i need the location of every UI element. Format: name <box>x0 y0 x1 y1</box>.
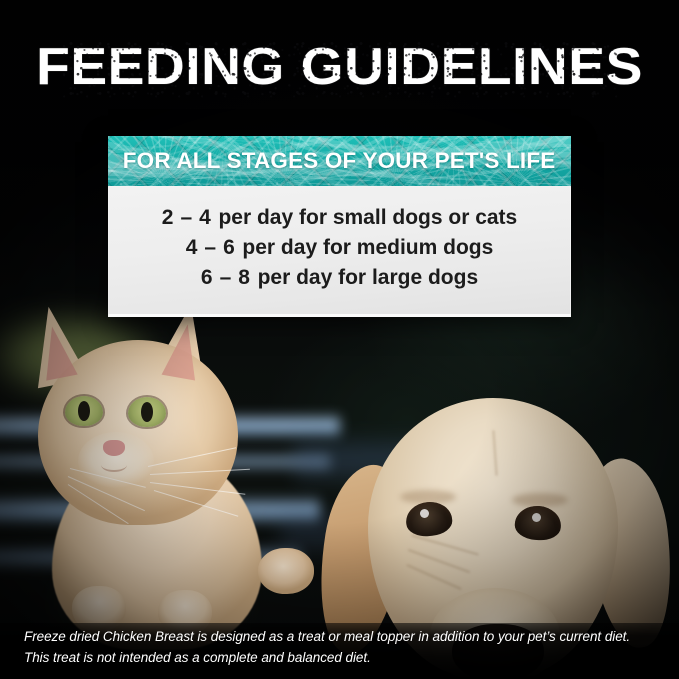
guideline-text: per day for large dogs <box>258 266 479 289</box>
cat-mouth <box>101 458 127 472</box>
feeding-guidelines-graphic: FEEDING GUIDELINES FOR ALL STAGES OF YOU… <box>0 0 679 679</box>
cat-pupil-left <box>78 401 90 421</box>
disclaimer-line-1: Freeze dried Chicken Breast is designed … <box>24 627 663 648</box>
cat-nose <box>103 440 125 456</box>
guideline-row: 6 – 8per day for large dogs <box>109 263 570 293</box>
guideline-amount: 4 – 6 <box>186 236 236 259</box>
guideline-row: 4 – 6per day for medium dogs <box>109 233 570 263</box>
guideline-amount: 6 – 8 <box>201 266 251 289</box>
feeding-card: FOR ALL STAGES OF YOUR PET'S LIFE 2 – 4p… <box>108 136 571 317</box>
guideline-text: per day for medium dogs <box>242 236 493 259</box>
page-title: FEEDING GUIDELINES <box>0 41 679 93</box>
cat-pupil-right <box>141 402 153 422</box>
guidelines-panel: 2 – 4per day for small dogs or cats 4 – … <box>108 186 571 317</box>
card-header-band: FOR ALL STAGES OF YOUR PET'S LIFE <box>108 136 571 186</box>
card-header-label: FOR ALL STAGES OF YOUR PET'S LIFE <box>123 148 556 174</box>
cat-photo <box>8 300 308 640</box>
pet-photo-background <box>0 0 679 679</box>
disclaimer-line-2: This treat is not intended as a complete… <box>24 648 663 669</box>
disclaimer: Freeze dried Chicken Breast is designed … <box>24 627 663 669</box>
dog-brow-right <box>512 493 568 507</box>
guideline-row: 2 – 4per day for small dogs or cats <box>109 203 570 233</box>
dog-eye-glint <box>420 509 429 518</box>
guideline-text: per day for small dogs or cats <box>218 206 517 229</box>
guideline-amount: 2 – 4 <box>162 206 212 229</box>
dog-eye-glint <box>532 513 541 522</box>
